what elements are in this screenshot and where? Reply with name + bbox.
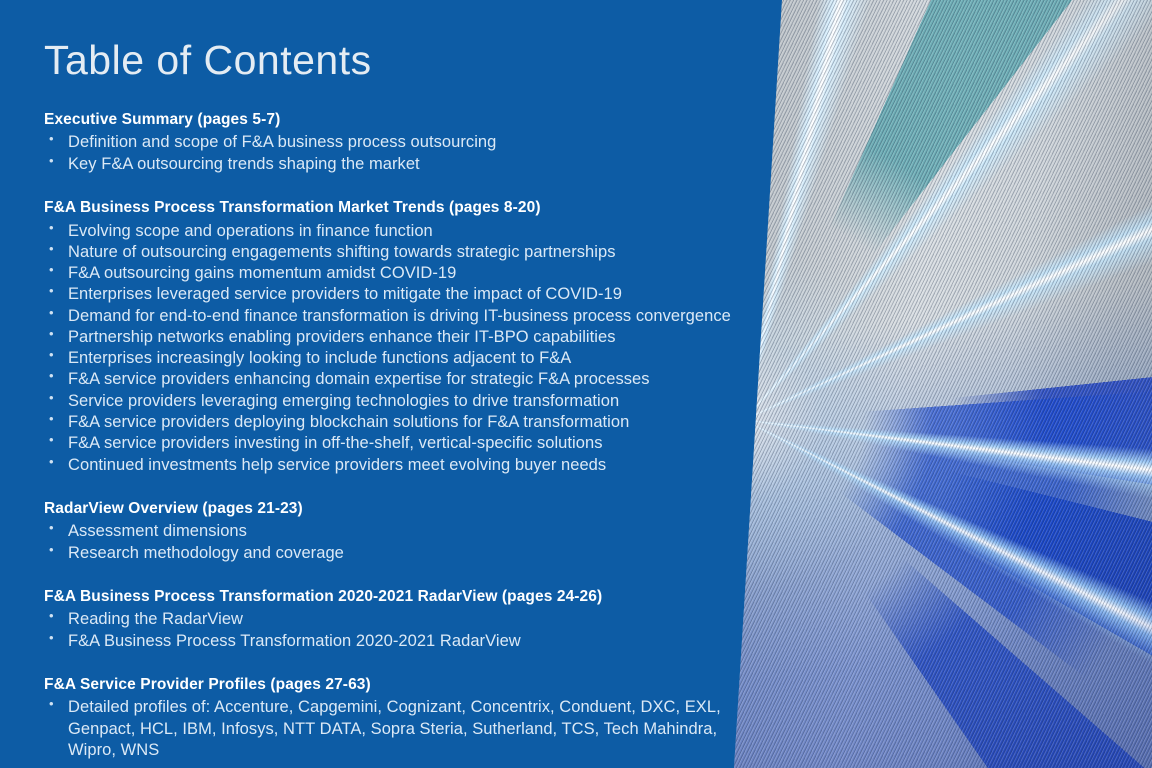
list-item: Service providers leveraging emerging te… bbox=[40, 391, 740, 412]
section-heading: Executive Summary (pages 5-7) bbox=[44, 109, 740, 131]
list-item: Definition and scope of F&A business pro… bbox=[40, 132, 740, 153]
list-item: Continued investments help service provi… bbox=[40, 455, 740, 476]
section-service-provider-profiles: F&A Service Provider Profiles (pages 27-… bbox=[40, 674, 740, 761]
section-radarview-overview: RadarView Overview (pages 21-23) Assessm… bbox=[40, 498, 740, 564]
section-heading: RadarView Overview (pages 21-23) bbox=[44, 498, 740, 520]
section-bullet-list: Reading the RadarView F&A Business Proce… bbox=[40, 609, 740, 652]
list-item: F&A service providers investing in off-t… bbox=[40, 433, 740, 454]
slide-canvas: Table of Contents Executive Summary (pag… bbox=[0, 0, 1152, 768]
list-item: Nature of outsourcing engagements shifti… bbox=[40, 242, 740, 263]
list-item: F&A service providers enhancing domain e… bbox=[40, 369, 740, 390]
section-market-trends: F&A Business Process Transformation Mark… bbox=[40, 197, 740, 476]
page-title: Table of Contents bbox=[44, 40, 740, 81]
list-item: Partnership networks enabling providers … bbox=[40, 327, 740, 348]
list-item: Evolving scope and operations in finance… bbox=[40, 221, 740, 242]
list-item: Detailed profiles of: Accenture, Capgemi… bbox=[40, 697, 740, 761]
section-heading: F&A Business Process Transformation 2020… bbox=[44, 586, 740, 608]
content-column: Table of Contents Executive Summary (pag… bbox=[40, 0, 740, 768]
list-item: Enterprises increasingly looking to incl… bbox=[40, 348, 740, 369]
fan-hatch-texture bbox=[722, 0, 1152, 768]
section-bullet-list: Assessment dimensions Research methodolo… bbox=[40, 521, 740, 564]
list-item: Enterprises leveraged service providers … bbox=[40, 284, 740, 305]
list-item: Demand for end-to-end finance transforma… bbox=[40, 306, 740, 327]
list-item: F&A service providers deploying blockcha… bbox=[40, 412, 740, 433]
list-item: F&A outsourcing gains momentum amidst CO… bbox=[40, 263, 740, 284]
section-heading: F&A Service Provider Profiles (pages 27-… bbox=[44, 674, 740, 696]
list-item: Reading the RadarView bbox=[40, 609, 740, 630]
list-item: F&A Business Process Transformation 2020… bbox=[40, 631, 740, 652]
radial-fan-graphic bbox=[722, 0, 1152, 768]
list-item: Key F&A outsourcing trends shaping the m… bbox=[40, 154, 740, 175]
list-item: Research methodology and coverage bbox=[40, 543, 740, 564]
section-executive-summary: Executive Summary (pages 5-7) Definition… bbox=[40, 109, 740, 175]
list-item: Assessment dimensions bbox=[40, 521, 740, 542]
section-bullet-list: Definition and scope of F&A business pro… bbox=[40, 132, 740, 175]
section-radarview-2020-2021: F&A Business Process Transformation 2020… bbox=[40, 586, 740, 652]
section-heading: F&A Business Process Transformation Mark… bbox=[44, 197, 740, 219]
section-bullet-list: Detailed profiles of: Accenture, Capgemi… bbox=[40, 697, 740, 761]
section-bullet-list: Evolving scope and operations in finance… bbox=[40, 221, 740, 476]
